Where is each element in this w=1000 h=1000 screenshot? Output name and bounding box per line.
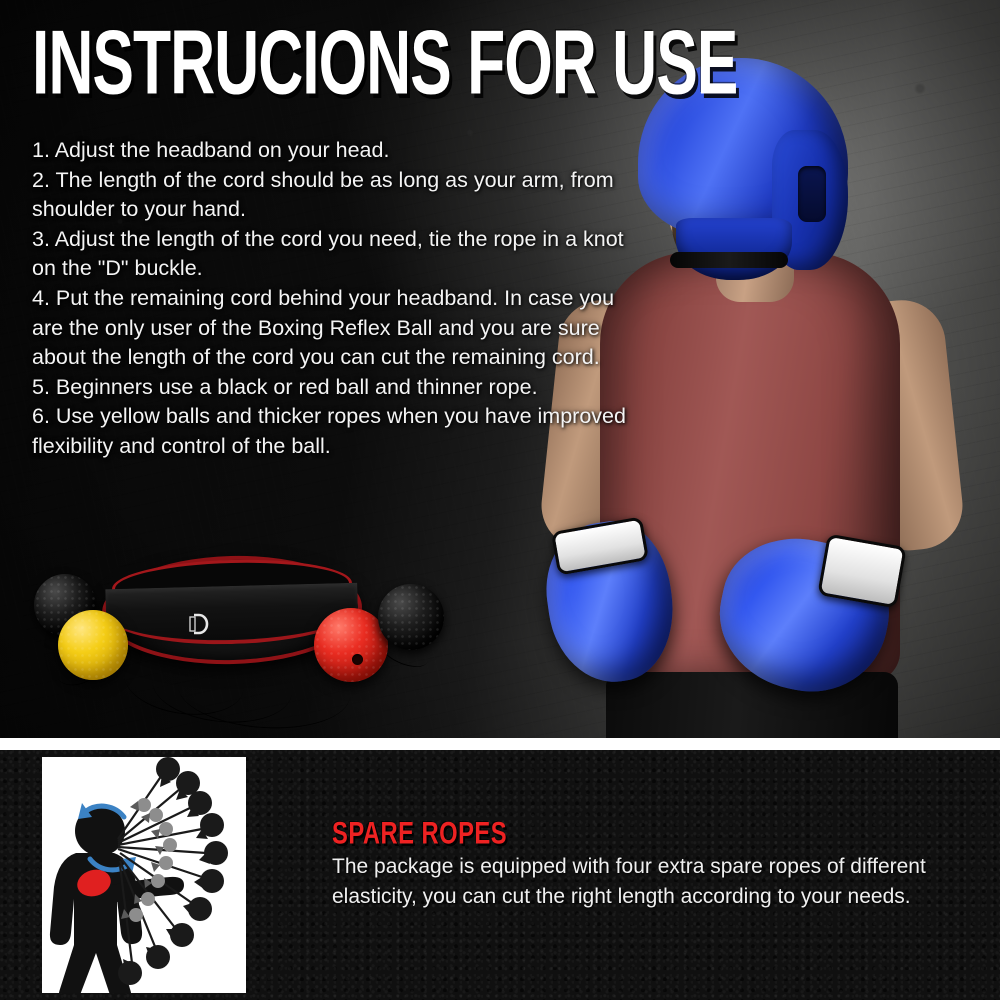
reflex-ball-black-right (378, 584, 444, 650)
instruction-step-2: 2. The length of the cord should be as l… (32, 166, 632, 225)
instructions-panel: INSTRUCIONS FOR USE 1. Adjust the headba… (0, 0, 1000, 738)
headgear-ear-vent (798, 166, 826, 222)
instruction-step-5: 5. Beginners use a black or red ball and… (32, 373, 632, 403)
product-photo-headband-and-balls (20, 528, 490, 728)
panel-divider (0, 738, 1000, 750)
reflex-ball-red (314, 608, 388, 682)
spare-ropes-body-text: The package is equipped with four extra … (332, 852, 952, 912)
instruction-list: 1. Adjust the headband on your head. 2. … (32, 136, 632, 462)
instruction-step-3: 3. Adjust the length of the cord you nee… (32, 225, 632, 284)
page-title: INSTRUCIONS FOR USE (32, 18, 864, 108)
boxer-shorts (606, 672, 898, 738)
instruction-step-1: 1. Adjust the headband on your head. (32, 136, 632, 166)
trajectory-illustration-box (42, 757, 246, 993)
spare-ropes-panel: SPARE ROPES The package is equipped with… (0, 750, 1000, 1000)
product-infographic: INSTRUCIONS FOR USE 1. Adjust the headba… (0, 0, 1000, 1000)
instruction-step-6: 6. Use yellow balls and thicker ropes wh… (32, 402, 632, 461)
reflex-ball-yellow (58, 610, 128, 680)
reflex-ball-trajectory-diagram-icon (42, 757, 246, 993)
d-ring-buckle-icon (188, 612, 210, 636)
spare-ropes-heading: SPARE ROPES (332, 816, 507, 851)
spare-ropes-description: The package is equipped with four extra … (332, 852, 952, 912)
instruction-step-4: 4. Put the remaining cord behind your he… (32, 284, 632, 373)
headgear-chin-strap (670, 252, 788, 268)
